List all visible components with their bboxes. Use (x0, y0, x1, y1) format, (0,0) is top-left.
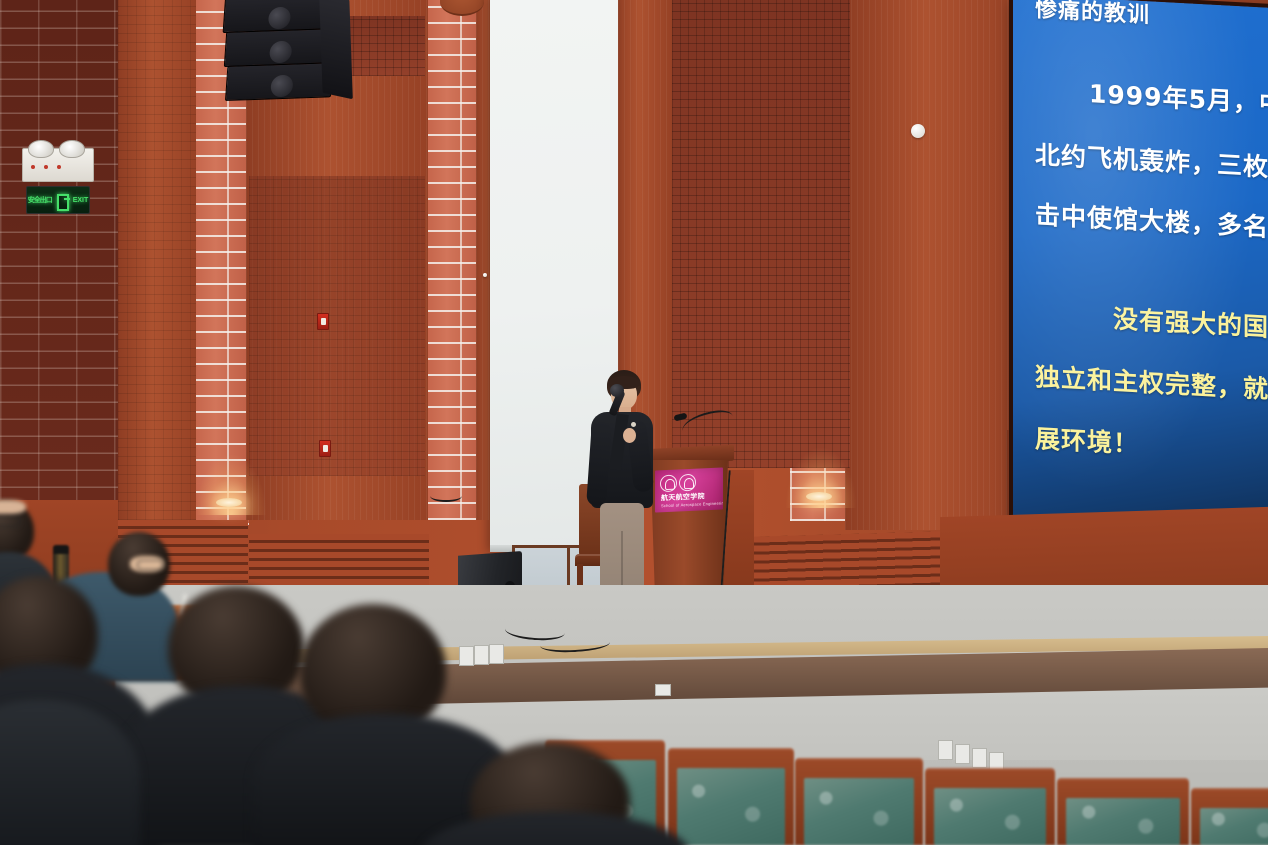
eyeglasses-icon (0, 516, 20, 527)
fire-alarm-upper (317, 313, 329, 330)
exit-sign: 安全出口 EXIT (26, 186, 90, 214)
auditorium-seat[interactable] (795, 758, 923, 845)
speaker-side-panel (319, 0, 353, 99)
acoustic-panel-3 (249, 176, 425, 476)
emergency-indicator-dots (31, 165, 61, 169)
exit-sign-label-zh: 安全出口 (28, 195, 52, 205)
speaker-box-3 (225, 62, 333, 101)
speaker-cone-icon (270, 74, 294, 97)
wood-pilaster-1 (118, 0, 196, 520)
dark-brick-panel (0, 0, 120, 505)
wood-panel-4 (845, 0, 1025, 530)
exit-sign-label-en: EXIT (73, 197, 89, 204)
auditorium-seat[interactable] (925, 768, 1055, 845)
stage-floor-outlet-2 (474, 645, 489, 665)
stage-cable-3 (430, 490, 462, 502)
microphone-icon (610, 384, 624, 397)
speaker-cone-icon (267, 7, 291, 30)
auditorium-seat[interactable] (1057, 778, 1189, 845)
slide-white-line-3: 击中使馆大楼，多名同胞 (1035, 195, 1268, 246)
line-array-speaker (223, 0, 339, 102)
audience-member-face (0, 500, 26, 514)
presenter-hand (623, 428, 636, 443)
college-emblem-icon (679, 474, 696, 492)
auditorium-seat[interactable] (1191, 788, 1268, 845)
emergency-lamp-left-icon (28, 140, 54, 158)
podium-banner: 航天航空学院 School of Aerospace Engineering (655, 468, 723, 513)
seat-upholstery (677, 768, 785, 845)
presenter-badge-pin (631, 422, 636, 427)
slide-header-text: 惨痛的教训 (1035, 0, 1150, 29)
eyeglasses-icon (137, 560, 163, 570)
auditorium-seat[interactable] (668, 748, 794, 845)
stage-floor-outlet-3 (489, 644, 504, 664)
slide-yellow-line-2: 独立和主权完整，就没有 (1035, 357, 1268, 408)
emergency-lamp-right-icon (59, 140, 85, 158)
stage-floor-outlet-1 (459, 646, 474, 666)
brick-column-2 (426, 0, 478, 520)
slide-yellow-line-1: 没有强大的国防， (1113, 299, 1268, 346)
slide-yellow-line-3: 展环境！ (1035, 419, 1139, 461)
running-man-door-icon (55, 193, 70, 208)
speaker-box-2 (224, 28, 332, 67)
wall-dot-icon (483, 273, 487, 277)
seat-upholstery (1066, 798, 1180, 845)
speaker-cone-icon (269, 40, 293, 63)
slide-white-line-1: 1999年5月，中国驻 (1089, 74, 1268, 123)
seat-upholstery (934, 788, 1046, 845)
auditorium-scene: 惨痛的教训 1999年5月，中国驻 北约飞机轰炸，三枚炸弹 击中使馆大楼，多名同… (0, 0, 1268, 845)
seat-upholstery (804, 778, 914, 845)
led-slide-wall[interactable]: 惨痛的教训 1999年5月，中国驻 北约飞机轰炸，三枚炸弹 击中使馆大楼，多名同… (1013, 0, 1268, 554)
university-crest-icon (660, 475, 677, 493)
seat-upholstery (1200, 808, 1268, 845)
uplight-fixture-1 (216, 498, 242, 507)
emergency-light (22, 148, 94, 182)
stage-floor-outlet-4 (655, 684, 671, 696)
acoustic-panel-1 (672, 0, 850, 468)
ceiling-fitting-icon (911, 124, 925, 138)
fire-alarm-lower (319, 440, 331, 457)
thermos-cap (53, 545, 69, 554)
uplight-fixture-2 (806, 492, 832, 501)
slide-white-line-2: 北约飞机轰炸，三枚炸弹 (1035, 135, 1268, 186)
